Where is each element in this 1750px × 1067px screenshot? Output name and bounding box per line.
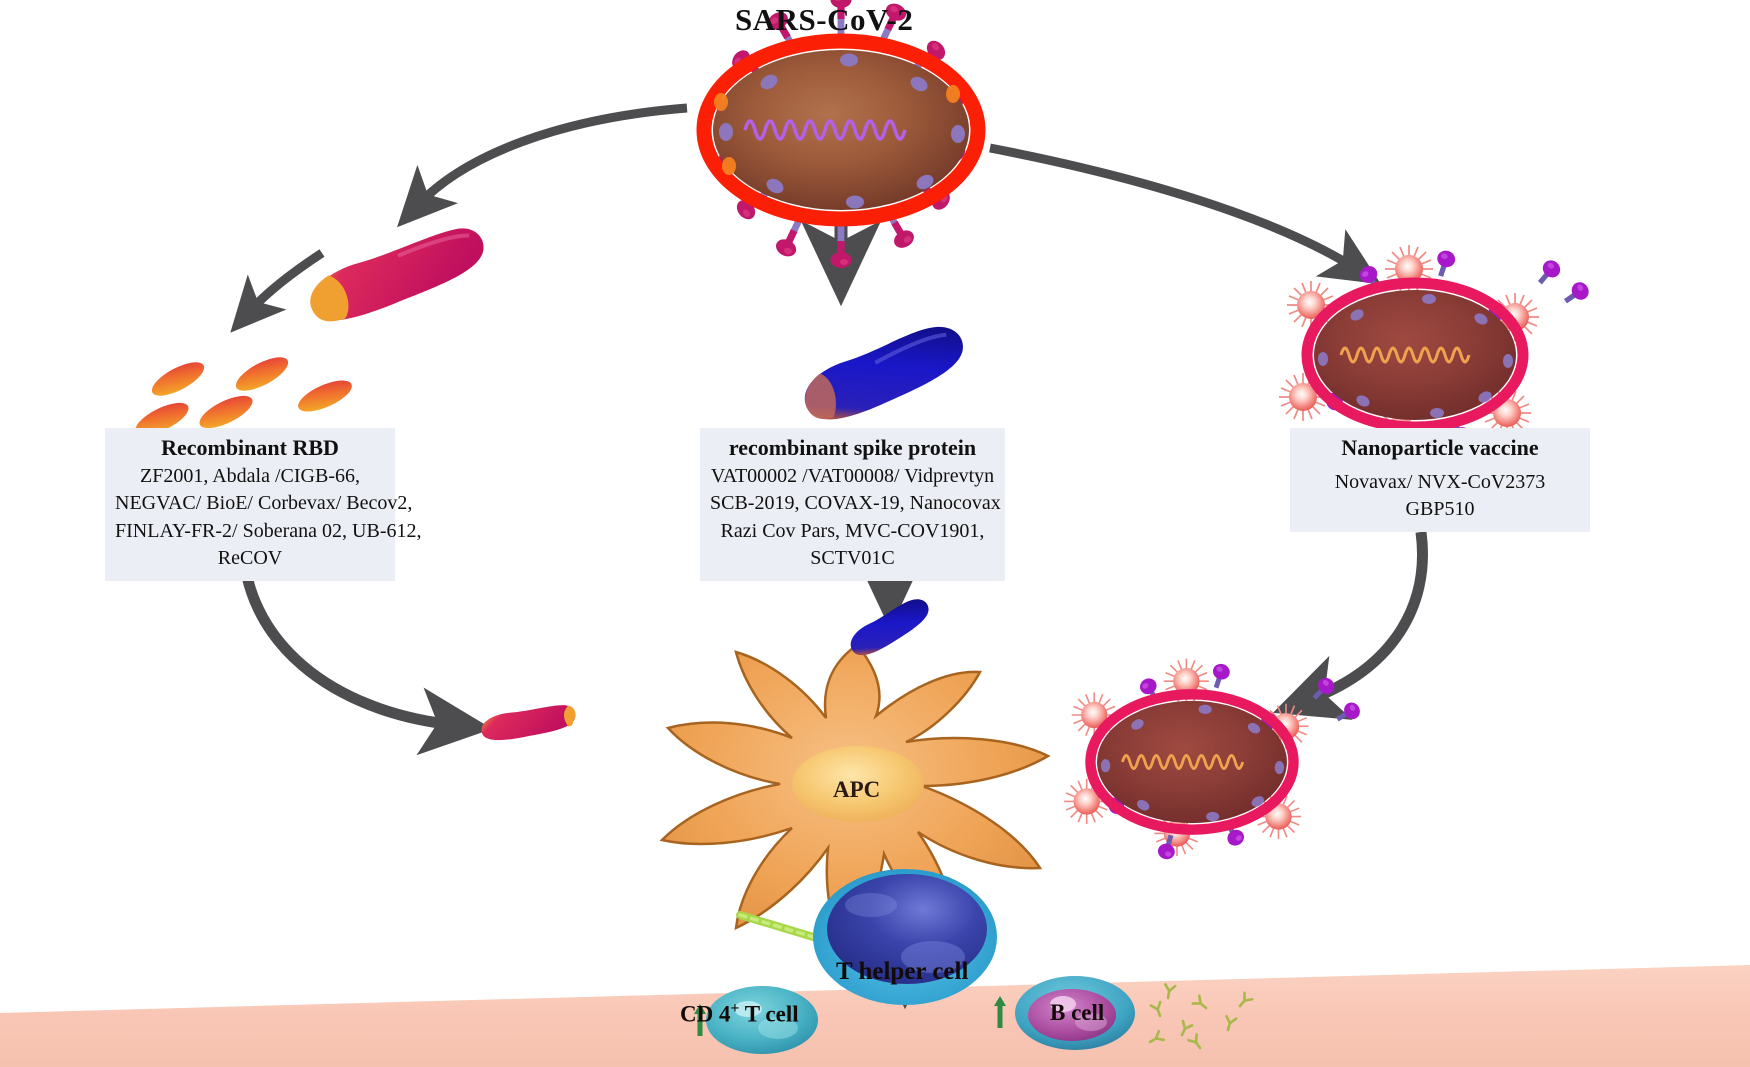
rbd-protein-icon xyxy=(302,221,492,330)
figure-canvas: SARS-CoV-2 Recombinant RBD ZF2001, Abdal… xyxy=(0,0,1750,1067)
recombinant-spike-line: SCB-2019, COVAX-19, Nanocovax xyxy=(710,490,995,518)
recombinant-spike-line: SCTV01C xyxy=(710,545,995,573)
nanoparticle-vaccine-heading: Nanoparticle vaccine xyxy=(1300,434,1580,463)
recombinant-spike-line: Razi Cov Pars, MVC-COV1901, xyxy=(710,518,995,546)
nanoparticle-vaccine-box: Nanoparticle vaccine Novavax/ NVX-CoV237… xyxy=(1290,428,1590,532)
recombinant-rbd-line: ReCOV xyxy=(115,545,385,573)
recombinant-spike-heading: recombinant spike protein xyxy=(710,434,995,463)
recombinant-rbd-line: NEGVAC/ BioE/ Corbevax/ Becov2, xyxy=(115,490,385,518)
recombinant-rbd-line: ZF2001, Abdala /CIGB-66, xyxy=(115,463,385,491)
recombinant-spike-protein-box: recombinant spike protein VAT00002 /VAT0… xyxy=(700,428,1005,581)
nanoparticle-vaccine-line: GBP510 xyxy=(1300,496,1580,524)
rbd-protein-icon xyxy=(480,703,578,743)
b-cell-label: B cell xyxy=(1050,1000,1104,1026)
sars-cov-2-virion-icon xyxy=(704,0,978,268)
apc-label: APC xyxy=(833,777,880,803)
nanoparticle-vaccine-line: Novavax/ NVX-CoV2373 xyxy=(1300,469,1580,497)
recombinant-rbd-box: Recombinant RBD ZF2001, Abdala /CIGB-66,… xyxy=(105,428,395,581)
spike-protein-icon xyxy=(843,595,936,661)
recombinant-rbd-heading: Recombinant RBD xyxy=(115,434,385,463)
recombinant-spike-line: VAT00002 /VAT00008/ Vidprevtyn xyxy=(710,463,995,491)
figure-title: SARS-CoV-2 xyxy=(735,2,913,38)
antibody-icon xyxy=(1148,984,1253,1051)
cd4-label-prefix: CD 4 xyxy=(680,1002,730,1027)
cd4-t-cell-label: CD 4+ T cell xyxy=(680,1000,799,1028)
up-arrow-icon xyxy=(994,996,1006,1028)
t-helper-cell-label: T helper cell xyxy=(836,958,968,986)
recombinant-rbd-line: FINLAY-FR-2/ Soberana 02, UB-612, xyxy=(115,518,385,546)
spike-protein-icon xyxy=(795,320,974,428)
nanoparticle-virion-icon xyxy=(1064,659,1363,862)
cd4-label-suffix: T cell xyxy=(739,1002,798,1027)
